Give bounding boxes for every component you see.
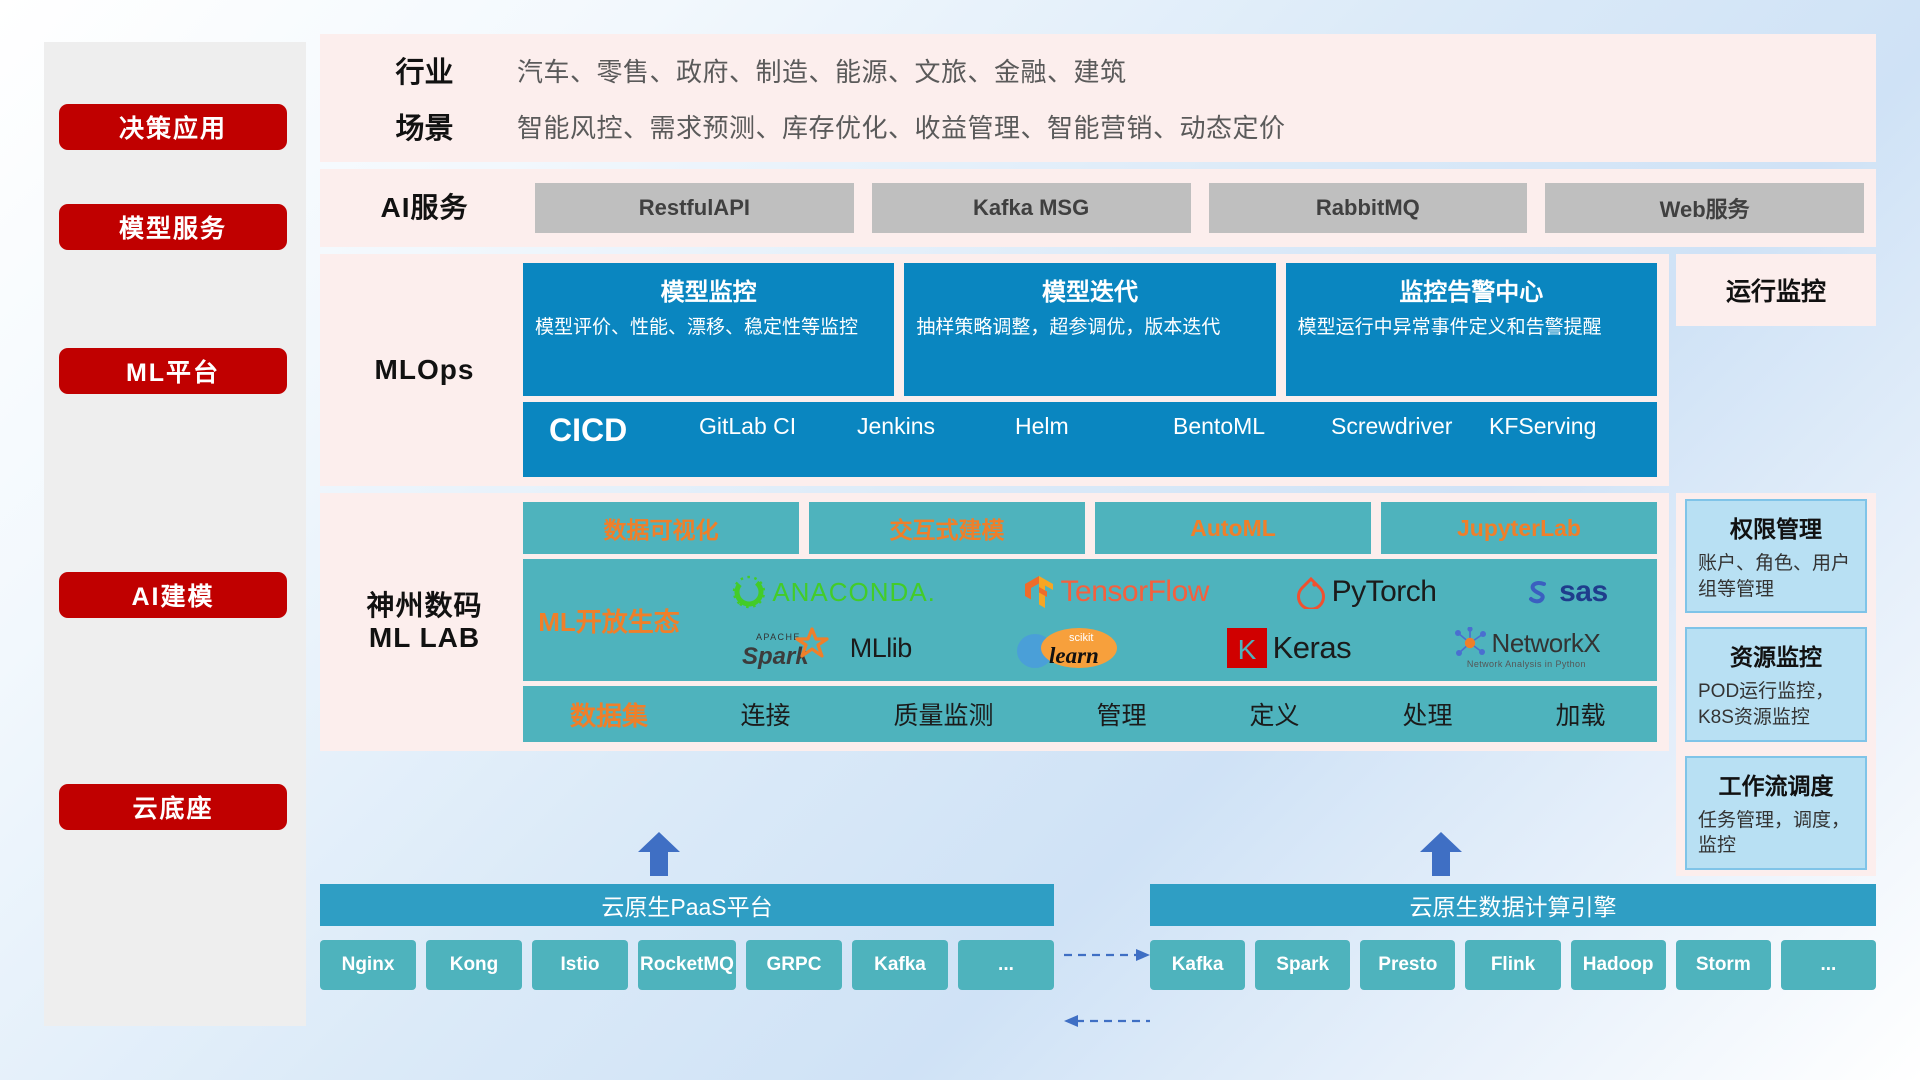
mlops-card-list: 模型监控 模型评价、性能、漂移、稳定性等监控 模型迭代 抽样策略调整，超参调优，… [523, 263, 1657, 396]
cicd-tool-kfserving[interactable]: KFServing [1489, 414, 1647, 438]
architecture-diagram: 决策应用 模型服务 ML平台 AI建模 云底座 行业 汽车、零售、政府、制造、能… [0, 0, 1920, 1080]
layer-chip-ai-modeling[interactable]: AI建模 [59, 572, 287, 618]
cicd-row: CICD GitLab CI Jenkins Helm BentoML Scre… [523, 402, 1657, 477]
keras-wordmark: Keras [1273, 630, 1351, 666]
tool-jupyterlab[interactable]: JupyterLab [1381, 502, 1657, 554]
paas-chip-kong[interactable]: Kong [426, 940, 522, 990]
anaconda-icon [732, 575, 766, 609]
paas-chip-rocketmq[interactable]: RocketMQ [638, 940, 736, 990]
spark-mllib-logo: APACHE Spark MLlib [740, 626, 912, 670]
ai-modeling-content: 数据可视化 交互式建模 AutoML JupyterLab ML开放生态 [517, 502, 1657, 742]
paas-chip-kafka[interactable]: Kafka [852, 940, 948, 990]
card-desc: 模型运行中异常事件定义和告警提醒 [1298, 315, 1602, 341]
dataset-item-list: 连接 质量监测 管理 定义 处理 加载 [689, 696, 1657, 732]
paas-chip-grpc[interactable]: GRPC [746, 940, 842, 990]
cicd-tool-helm[interactable]: Helm [1015, 414, 1173, 438]
ml-lab-line1: 神州数码 [332, 590, 517, 622]
ml-lab-line2: ML LAB [332, 622, 517, 654]
anaconda-wordmark: ANACONDA. [772, 577, 936, 608]
ecosystem-label: ML开放生态 [529, 602, 689, 639]
paas-platform-title: 云原生PaaS平台 [320, 884, 1054, 926]
svg-text:K: K [1237, 634, 1256, 665]
data-engine-group: 云原生数据计算引擎 Kafka Spark Presto Flink Hadoo… [1150, 884, 1876, 1034]
ai-service-label: AI服务 [332, 192, 517, 224]
dataset-item-manage[interactable]: 管理 [1096, 696, 1146, 732]
scenario-label: 场景 [332, 105, 517, 147]
monitor-card-permission[interactable]: 权限管理 账户、角色、用户组等管理 [1685, 499, 1867, 613]
pytorch-icon [1296, 575, 1326, 609]
bidirectional-link [1064, 944, 1150, 1032]
engine-chip-kafka[interactable]: Kafka [1150, 940, 1245, 990]
engine-chip-spark[interactable]: Spark [1255, 940, 1350, 990]
logo-row-2: APACHE Spark MLlib [689, 621, 1651, 675]
mllib-wordmark: MLlib [850, 633, 912, 664]
tool-data-visualization[interactable]: 数据可视化 [523, 502, 799, 554]
card-title: 权限管理 [1730, 510, 1822, 544]
cicd-tool-bentoml[interactable]: BentoML [1173, 414, 1331, 438]
layer-chip-model-service[interactable]: 模型服务 [59, 204, 287, 250]
arrow-up-paas-icon [638, 832, 680, 876]
scenario-row: 场景 智能风控、需求预测、库存优化、收益管理、智能营销、动态定价 [332, 98, 1864, 154]
networkx-tagline: Network Analysis in Python [1467, 659, 1586, 669]
svg-text:learn: learn [1049, 643, 1099, 668]
engine-chip-hadoop[interactable]: Hadoop [1571, 940, 1666, 990]
svg-text:Spark: Spark [742, 643, 810, 670]
keras-icon: K [1227, 628, 1267, 668]
ml-lab-label: 神州数码 ML LAB [332, 590, 517, 654]
ai-modeling-row: 神州数码 ML LAB 数据可视化 交互式建模 AutoML JupyterLa… [320, 493, 1876, 876]
scenario-list: 智能风控、需求预测、库存优化、收益管理、智能营销、动态定价 [517, 108, 1286, 145]
engine-chip-storm[interactable]: Storm [1676, 940, 1771, 990]
mlops-content: 模型监控 模型评价、性能、漂移、稳定性等监控 模型迭代 抽样策略调整，超参调优，… [517, 263, 1657, 477]
anaconda-logo: ANACONDA. [732, 575, 936, 609]
card-title: 资源监控 [1730, 638, 1822, 672]
service-kafka-msg[interactable]: Kafka MSG [872, 183, 1191, 233]
logo-row-1: ANACONDA. TensorFlow [689, 565, 1651, 619]
monitor-card-list: 权限管理 账户、角色、用户组等管理 资源监控 POD运行监控，K8S资源监控 工… [1676, 493, 1876, 876]
mlops-card-alert-center[interactable]: 监控告警中心 模型运行中异常事件定义和告警提醒 [1286, 263, 1657, 396]
paas-chip-istio[interactable]: Istio [532, 940, 628, 990]
ai-service-list: RestfulAPI Kafka MSG RabbitMQ Web服务 [517, 183, 1864, 233]
tool-automl[interactable]: AutoML [1095, 502, 1371, 554]
cicd-tool-gitlab-ci[interactable]: GitLab CI [699, 414, 857, 438]
cicd-label: CICD [549, 414, 699, 446]
card-desc: 账户、角色、用户组等管理 [1698, 551, 1854, 602]
layer-chip-ml-platform[interactable]: ML平台 [59, 348, 287, 394]
mlops-band: MLOps 模型监控 模型评价、性能、漂移、稳定性等监控 模型迭代 抽样策略调整… [320, 254, 1669, 486]
keras-logo: K Keras [1227, 628, 1351, 668]
mlops-card-model-monitoring[interactable]: 模型监控 模型评价、性能、漂移、稳定性等监控 [523, 263, 894, 396]
paas-chip-more[interactable]: ... [958, 940, 1054, 990]
layer-chip-cloud-base[interactable]: 云底座 [59, 784, 287, 830]
cicd-tool-screwdriver[interactable]: Screwdriver [1331, 414, 1489, 438]
decision-application-band: 行业 汽车、零售、政府、制造、能源、文旅、金融、建筑 场景 智能风控、需求预测、… [320, 34, 1876, 162]
model-service-band: AI服务 RestfulAPI Kafka MSG RabbitMQ Web服务 [320, 169, 1876, 247]
pytorch-logo: PyTorch [1296, 575, 1437, 609]
engine-chip-presto[interactable]: Presto [1360, 940, 1455, 990]
networkx-logo: NetworkX Network Analysis in Python [1453, 627, 1601, 669]
card-desc: 模型评价、性能、漂移、稳定性等监控 [535, 315, 858, 341]
data-engine-title: 云原生数据计算引擎 [1150, 884, 1876, 926]
monitor-card-workflow[interactable]: 工作流调度 任务管理，调度，监控 [1685, 756, 1867, 870]
tensorflow-logo: TensorFlow [1023, 574, 1209, 610]
dataset-row: 数据集 连接 质量监测 管理 定义 处理 加载 [523, 686, 1657, 742]
arrow-left-icon [1064, 1010, 1150, 1032]
dataset-item-connect[interactable]: 连接 [740, 696, 790, 732]
engine-chip-flink[interactable]: Flink [1465, 940, 1560, 990]
service-web[interactable]: Web服务 [1545, 183, 1864, 233]
ecosystem-logo-grid: ANACONDA. TensorFlow [689, 565, 1651, 675]
layer-label-column: 决策应用 模型服务 ML平台 AI建模 云底座 [44, 42, 306, 1026]
modeling-tool-list: 数据可视化 交互式建模 AutoML JupyterLab [523, 502, 1657, 554]
engine-chip-more[interactable]: ... [1781, 940, 1876, 990]
paas-platform-group: 云原生PaaS平台 Nginx Kong Istio RocketMQ GRPC… [320, 884, 1054, 1034]
spark-icon: APACHE Spark [740, 626, 844, 670]
pytorch-wordmark: PyTorch [1332, 575, 1437, 609]
sas-logo: sas [1523, 575, 1608, 609]
card-title: 模型监控 [661, 272, 757, 307]
dataset-label: 数据集 [529, 696, 689, 733]
dataset-item-process[interactable]: 处理 [1402, 696, 1452, 732]
ml-platform-row: MLOps 模型监控 模型评价、性能、漂移、稳定性等监控 模型迭代 抽样策略调整… [320, 254, 1876, 486]
dataset-item-define[interactable]: 定义 [1249, 696, 1299, 732]
networkx-wordmark: NetworkX [1492, 628, 1601, 659]
dataset-item-load[interactable]: 加载 [1555, 696, 1605, 732]
tool-interactive-modeling[interactable]: 交互式建模 [809, 502, 1085, 554]
ai-modeling-band: 神州数码 ML LAB 数据可视化 交互式建模 AutoML JupyterLa… [320, 493, 1669, 751]
paas-chip-nginx[interactable]: Nginx [320, 940, 416, 990]
card-desc: 抽样策略调整，超参调优，版本迭代 [916, 315, 1220, 341]
cicd-tool-jenkins[interactable]: Jenkins [857, 414, 1015, 438]
sas-icon [1523, 577, 1553, 607]
service-restfulapi[interactable]: RestfulAPI [535, 183, 854, 233]
mlops-label: MLOps [332, 354, 517, 386]
dataset-item-quality[interactable]: 质量监测 [893, 696, 993, 732]
card-desc: POD运行监控，K8S资源监控 [1698, 679, 1854, 730]
card-title: 监控告警中心 [1399, 272, 1543, 307]
layer-chip-decision[interactable]: 决策应用 [59, 104, 287, 150]
mlops-card-model-iteration[interactable]: 模型迭代 抽样策略调整，超参调优，版本迭代 [904, 263, 1275, 396]
cloud-base-row: 云原生PaaS平台 Nginx Kong Istio RocketMQ GRPC… [320, 884, 1876, 1034]
service-rabbitmq[interactable]: RabbitMQ [1209, 183, 1528, 233]
industry-list: 汽车、零售、政府、制造、能源、文旅、金融、建筑 [517, 52, 1127, 89]
card-desc: 任务管理，调度，监控 [1698, 808, 1854, 859]
networkx-icon [1453, 627, 1487, 659]
paas-chip-list: Nginx Kong Istio RocketMQ GRPC Kafka ... [320, 940, 1054, 990]
main-content-column: 行业 汽车、零售、政府、制造、能源、文旅、金融、建筑 场景 智能风控、需求预测、… [320, 34, 1876, 1046]
card-title: 模型迭代 [1042, 272, 1138, 307]
sas-wordmark: sas [1559, 575, 1608, 609]
tensorflow-icon [1023, 574, 1055, 610]
industry-label: 行业 [332, 49, 517, 91]
svg-text:APACHE: APACHE [756, 632, 801, 642]
tensorflow-wordmark: TensorFlow [1061, 575, 1209, 609]
data-engine-chip-list: Kafka Spark Presto Flink Hadoop Storm ..… [1150, 940, 1876, 990]
industry-row: 行业 汽车、零售、政府、制造、能源、文旅、金融、建筑 [332, 42, 1864, 98]
scikit-learn-icon: scikit learn [1013, 625, 1125, 671]
arrow-up-data-engine-icon [1420, 832, 1462, 876]
arrow-right-icon [1064, 944, 1150, 966]
scikit-learn-logo: scikit learn [1013, 625, 1125, 671]
ml-open-ecosystem: ML开放生态 ANACONDA. [523, 559, 1657, 681]
monitor-panel-title: 运行监控 [1676, 254, 1876, 326]
card-title: 工作流调度 [1719, 767, 1834, 801]
monitor-card-resource[interactable]: 资源监控 POD运行监控，K8S资源监控 [1685, 627, 1867, 741]
